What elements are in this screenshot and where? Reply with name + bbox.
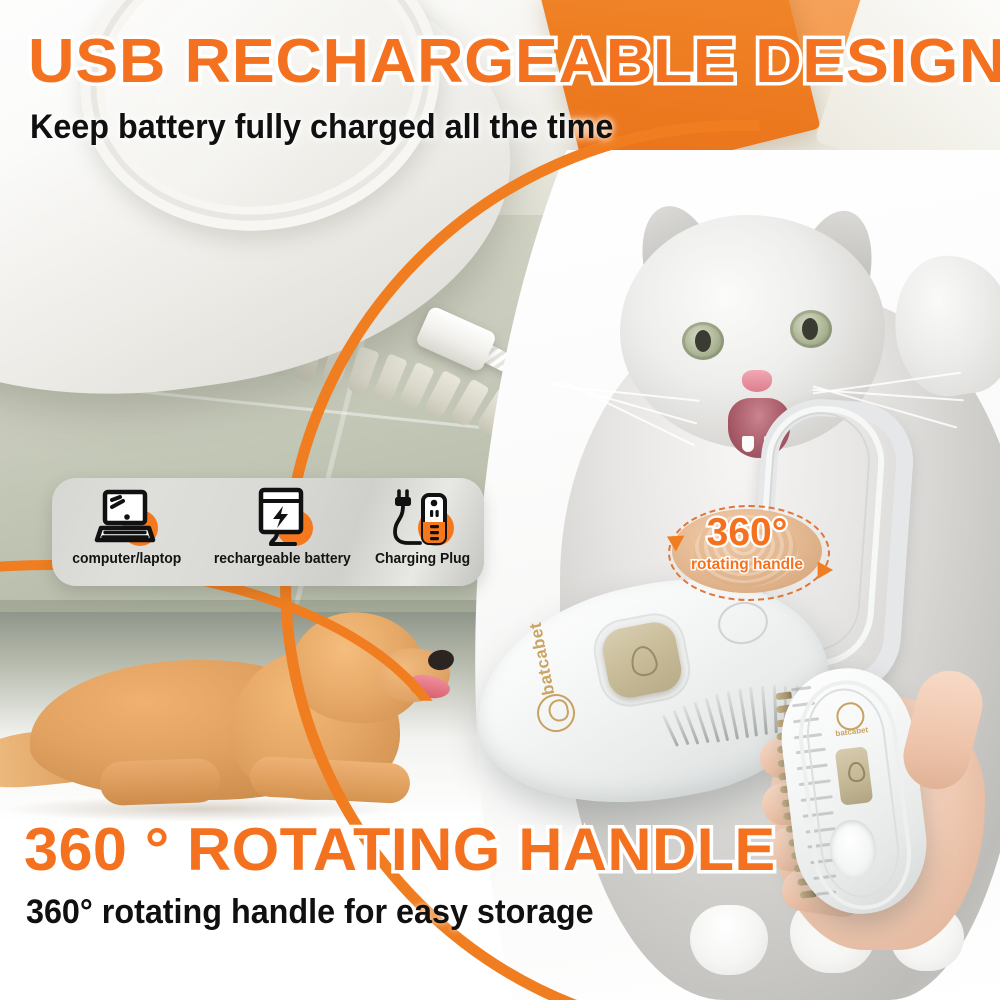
infographic-canvas: batcabet batcabet [0, 0, 1000, 1000]
laptop-icon [94, 486, 160, 548]
badge-value: 360° [668, 513, 826, 552]
subtitle-bottom: 360° rotating handle for easy storage [26, 893, 881, 932]
dog-hind-leg [99, 758, 220, 806]
subtitle-top: Keep battery fully charged all the time [30, 108, 885, 147]
folded-device-brand-logo: batcabet [832, 700, 874, 742]
charging-plug-icon [390, 486, 456, 548]
brand-name-small: batcabet [835, 725, 869, 738]
cat-pupil-right [802, 318, 818, 340]
feature-computer-laptop: computer/laptop [52, 478, 202, 567]
feature-rechargeable-battery: rechargeable battery [202, 478, 362, 567]
feature-label: rechargeable battery [214, 551, 351, 567]
pet-face-glyph [547, 698, 571, 723]
headline-bottom: 360 ° ROTATING HANDLE [24, 815, 942, 884]
feature-charging-plug: Charging Plug [362, 478, 484, 567]
feature-label: Charging Plug [375, 551, 470, 567]
feature-label: computer/laptop [72, 551, 181, 567]
rechargeable-battery-icon [249, 486, 315, 548]
rotating-handle-badge: 360° rotating handle [668, 505, 826, 597]
brand-name: batcabet [526, 621, 560, 697]
compatibility-panel: computer/laptop rechargeable battery [52, 478, 484, 586]
pet-face-circle-icon [534, 691, 579, 736]
badge-caption: rotating handle [668, 557, 826, 573]
headline-top: USB RECHARGEABLE DESIGN [28, 26, 1000, 97]
